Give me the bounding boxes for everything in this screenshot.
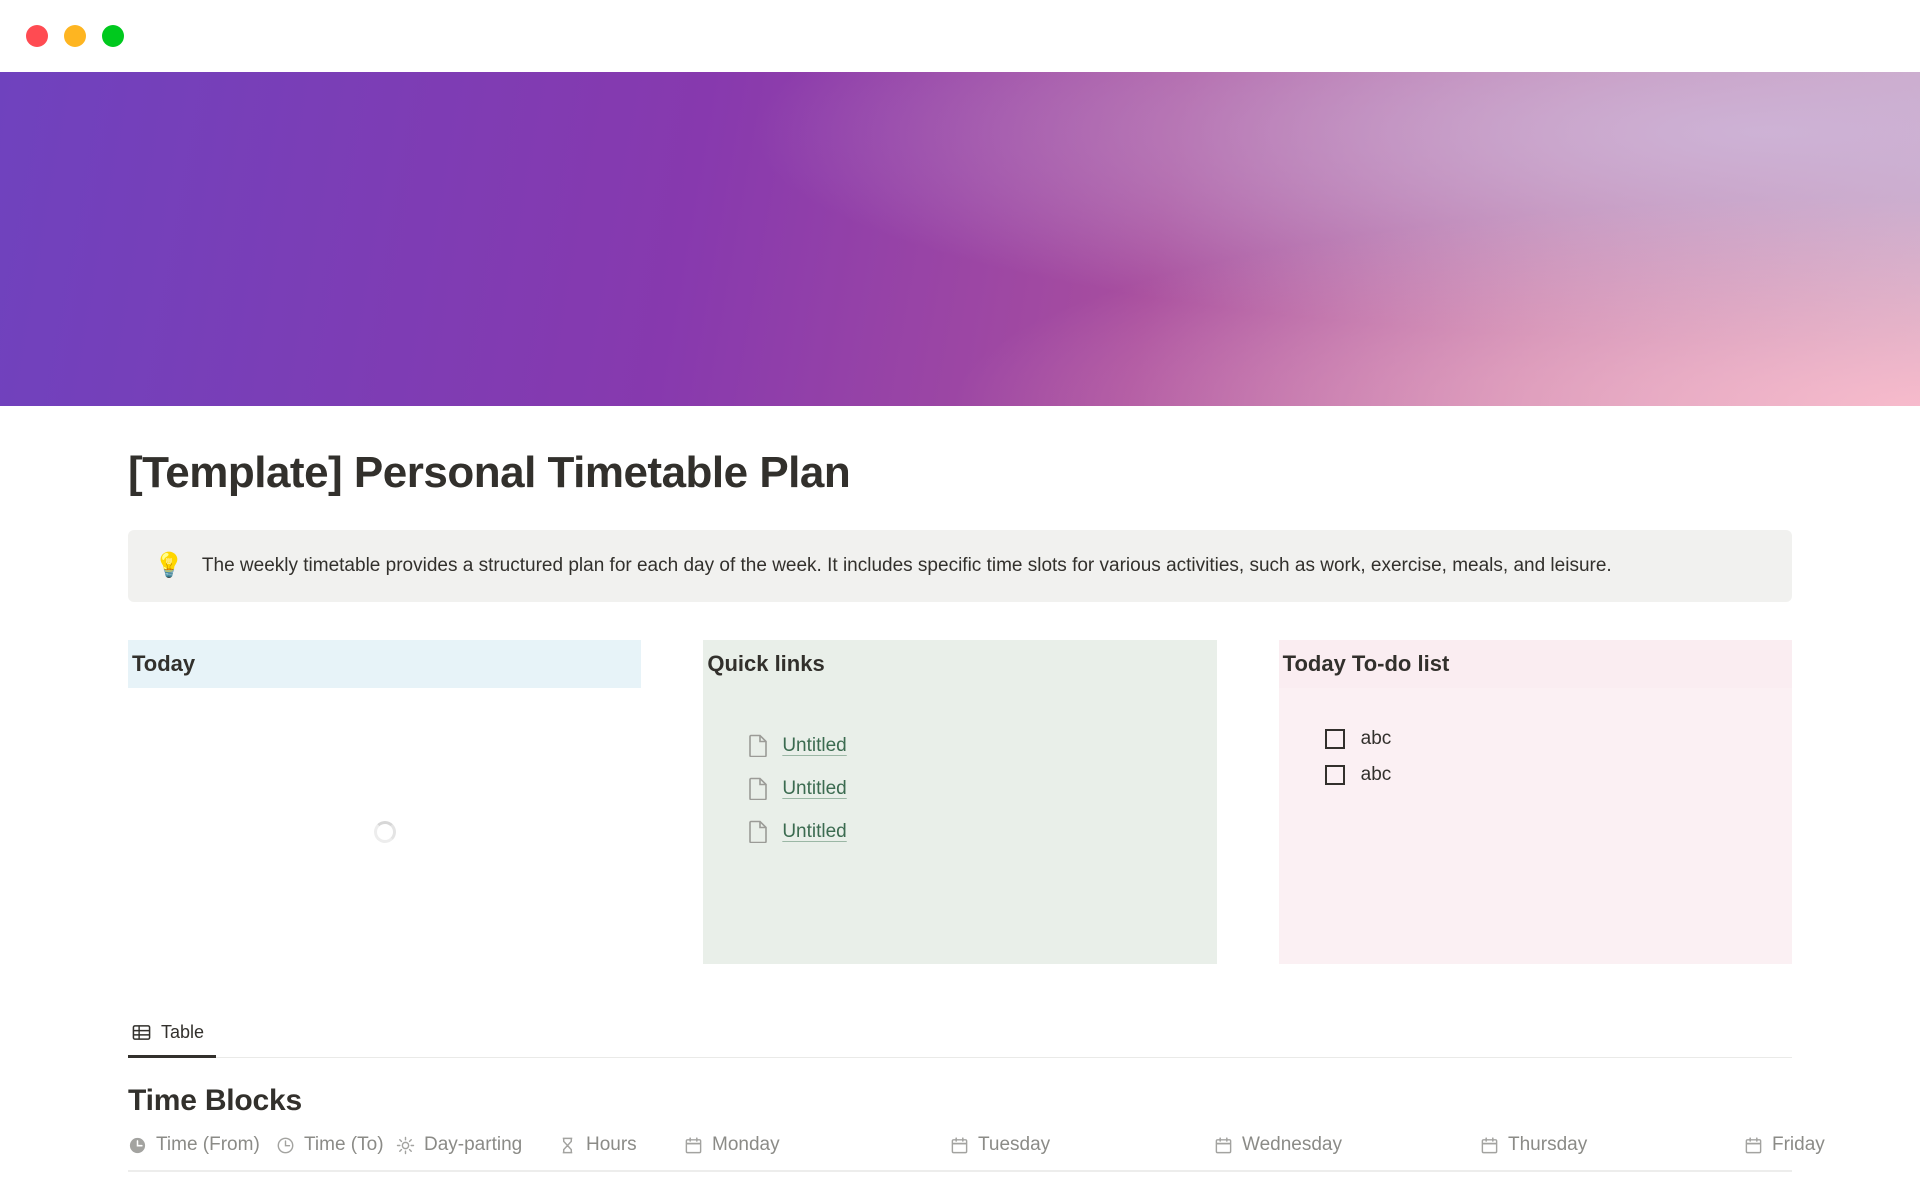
- column-friday[interactable]: Friday: [1744, 1134, 1920, 1156]
- todo-label[interactable]: abc: [1361, 764, 1392, 786]
- calendar-icon: [1744, 1136, 1763, 1155]
- column-label: Wednesday: [1242, 1134, 1342, 1156]
- column-hours[interactable]: Hours: [558, 1134, 684, 1156]
- todo-label[interactable]: abc: [1361, 728, 1392, 750]
- panel-today-header: Today: [128, 640, 641, 688]
- page-cover-image[interactable]: [0, 72, 1920, 406]
- tabs-divider: [216, 1016, 1792, 1058]
- column-time-from[interactable]: Time (From): [128, 1134, 276, 1156]
- maximize-window-button[interactable]: [102, 25, 124, 47]
- panel-quick-links-header: Quick links: [703, 640, 1216, 688]
- close-window-button[interactable]: [26, 25, 48, 47]
- column-label: Hours: [586, 1134, 637, 1156]
- document-icon: [749, 734, 768, 757]
- tab-table-label: Table: [161, 1022, 204, 1043]
- panel-todo-header: Today To-do list: [1279, 640, 1792, 688]
- callout-block[interactable]: 💡 The weekly timetable provides a struct…: [128, 530, 1792, 602]
- list-item[interactable]: abc: [1325, 728, 1792, 750]
- calendar-icon: [684, 1136, 703, 1155]
- hourglass-icon: [558, 1136, 577, 1155]
- column-day-parting[interactable]: Day-parting: [396, 1134, 558, 1156]
- clock-outline-icon: [276, 1136, 295, 1155]
- database-view-tabs: Table: [128, 1016, 1792, 1058]
- document-icon: [749, 820, 768, 843]
- column-wednesday[interactable]: Wednesday: [1214, 1134, 1480, 1156]
- document-icon: [749, 777, 768, 800]
- sun-icon: [396, 1136, 415, 1155]
- panel-today-body[interactable]: [128, 688, 641, 964]
- window-titlebar: [0, 0, 1920, 72]
- column-monday[interactable]: Monday: [684, 1134, 950, 1156]
- column-label: Time (From): [156, 1134, 260, 1156]
- calendar-icon: [1480, 1136, 1499, 1155]
- table-column-header-row: Time (From) Time (To) Day-parting: [128, 1134, 1792, 1172]
- column-label: Time (To): [304, 1134, 384, 1156]
- panel-todo-body: abc abc: [1279, 688, 1792, 964]
- panel-quick-links: Quick links Untitled: [703, 640, 1216, 964]
- panel-quick-links-body: Untitled Untitled: [703, 688, 1216, 964]
- callout-text: The weekly timetable provides a structur…: [202, 552, 1612, 580]
- column-label: Friday: [1772, 1134, 1825, 1156]
- page-title[interactable]: [Template] Personal Timetable Plan: [128, 448, 1792, 498]
- column-label: Thursday: [1508, 1134, 1587, 1156]
- loading-spinner-icon: [374, 821, 396, 843]
- panel-today: Today: [128, 640, 641, 964]
- page-content: [Template] Personal Timetable Plan 💡 The…: [0, 448, 1920, 1172]
- list-item[interactable]: Untitled: [749, 734, 1216, 757]
- table-icon: [132, 1023, 151, 1042]
- column-label: Monday: [712, 1134, 780, 1156]
- calendar-icon: [1214, 1136, 1233, 1155]
- column-label: Tuesday: [978, 1134, 1050, 1156]
- list-item[interactable]: Untitled: [749, 777, 1216, 800]
- list-item[interactable]: Untitled: [749, 820, 1216, 843]
- quick-link-label[interactable]: Untitled: [782, 778, 846, 800]
- database-title[interactable]: Time Blocks: [128, 1084, 1792, 1118]
- quick-link-label[interactable]: Untitled: [782, 735, 846, 757]
- column-thursday[interactable]: Thursday: [1480, 1134, 1744, 1156]
- panel-todo-list: Today To-do list abc abc: [1279, 640, 1792, 964]
- column-label: Day-parting: [424, 1134, 522, 1156]
- list-item[interactable]: abc: [1325, 764, 1792, 786]
- minimize-window-button[interactable]: [64, 25, 86, 47]
- lightbulb-icon: 💡: [154, 554, 184, 578]
- quick-link-label[interactable]: Untitled: [782, 821, 846, 843]
- calendar-icon: [950, 1136, 969, 1155]
- clock-filled-icon: [128, 1136, 147, 1155]
- column-tuesday[interactable]: Tuesday: [950, 1134, 1214, 1156]
- todo-checkbox[interactable]: [1325, 729, 1345, 749]
- dashboard-panels: Today Quick links Untitled: [128, 640, 1792, 964]
- column-time-to[interactable]: Time (To): [276, 1134, 396, 1156]
- tab-table[interactable]: Table: [128, 1016, 216, 1058]
- todo-checkbox[interactable]: [1325, 765, 1345, 785]
